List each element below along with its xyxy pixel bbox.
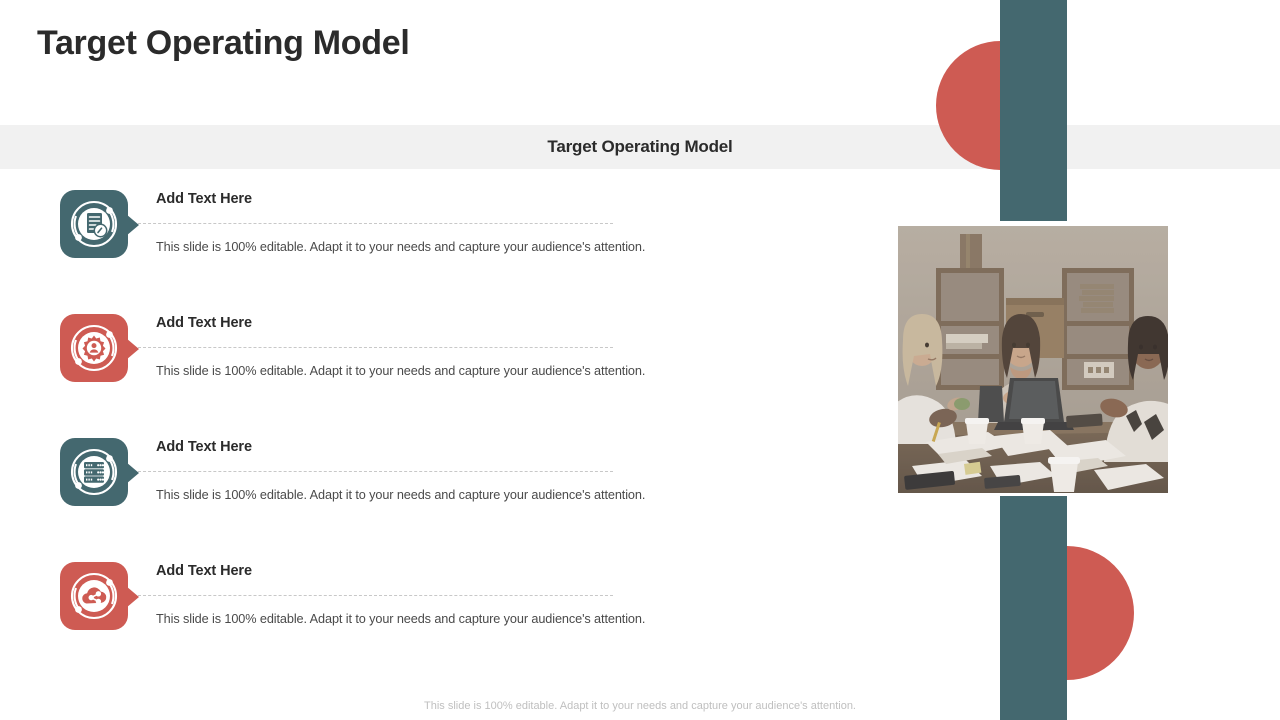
- content-rows: Add Text Here This slide is 100% editabl…: [0, 190, 900, 686]
- row-body-text: This slide is 100% editable. Adapt it to…: [156, 240, 645, 254]
- row-divider: [138, 347, 613, 348]
- row-text-block: Add Text Here This slide is 100% editabl…: [156, 314, 856, 332]
- gear-person-orbit-icon[interactable]: [60, 314, 128, 382]
- row-divider: [138, 471, 613, 472]
- row-heading: Add Text Here: [156, 314, 856, 332]
- row-heading: Add Text Here: [156, 438, 856, 456]
- decorative-bar-top: [1000, 0, 1067, 221]
- row-text-block: Add Text Here This slide is 100% editabl…: [156, 562, 856, 580]
- pointer-arrow: [126, 214, 139, 236]
- icon-container[interactable]: [60, 314, 128, 382]
- row-heading: Add Text Here: [156, 190, 856, 208]
- pointer-arrow: [126, 586, 139, 608]
- slide-canvas: Target Operating Model Target Operating …: [0, 0, 1280, 720]
- row-text-block: Add Text Here This slide is 100% editabl…: [156, 438, 856, 456]
- list-item[interactable]: Add Text Here This slide is 100% editabl…: [0, 438, 900, 562]
- row-heading: Add Text Here: [156, 562, 856, 580]
- row-body-text: This slide is 100% editable. Adapt it to…: [156, 364, 645, 378]
- cloud-share-orbit-icon[interactable]: [60, 562, 128, 630]
- business-meeting-photo: [898, 226, 1168, 493]
- pointer-arrow: [126, 462, 139, 484]
- icon-container[interactable]: [60, 562, 128, 630]
- pointer-arrow: [126, 338, 139, 360]
- document-check-orbit-icon[interactable]: [60, 190, 128, 258]
- list-item[interactable]: Add Text Here This slide is 100% editabl…: [0, 190, 900, 314]
- icon-container[interactable]: [60, 438, 128, 506]
- row-body-text: This slide is 100% editable. Adapt it to…: [156, 612, 645, 626]
- decorative-bar-bottom: [1000, 496, 1067, 720]
- list-item[interactable]: Add Text Here This slide is 100% editabl…: [0, 562, 900, 686]
- section-band-title: Target Operating Model: [0, 125, 1280, 169]
- row-divider: [138, 595, 613, 596]
- page-title: Target Operating Model: [37, 24, 409, 63]
- row-text-block: Add Text Here This slide is 100% editabl…: [156, 190, 856, 208]
- icon-container[interactable]: [60, 190, 128, 258]
- row-body-text: This slide is 100% editable. Adapt it to…: [156, 488, 645, 502]
- row-divider: [138, 223, 613, 224]
- footer-note: This slide is 100% editable. Adapt it to…: [0, 700, 1280, 712]
- server-stack-orbit-icon[interactable]: [60, 438, 128, 506]
- list-item[interactable]: Add Text Here This slide is 100% editabl…: [0, 314, 900, 438]
